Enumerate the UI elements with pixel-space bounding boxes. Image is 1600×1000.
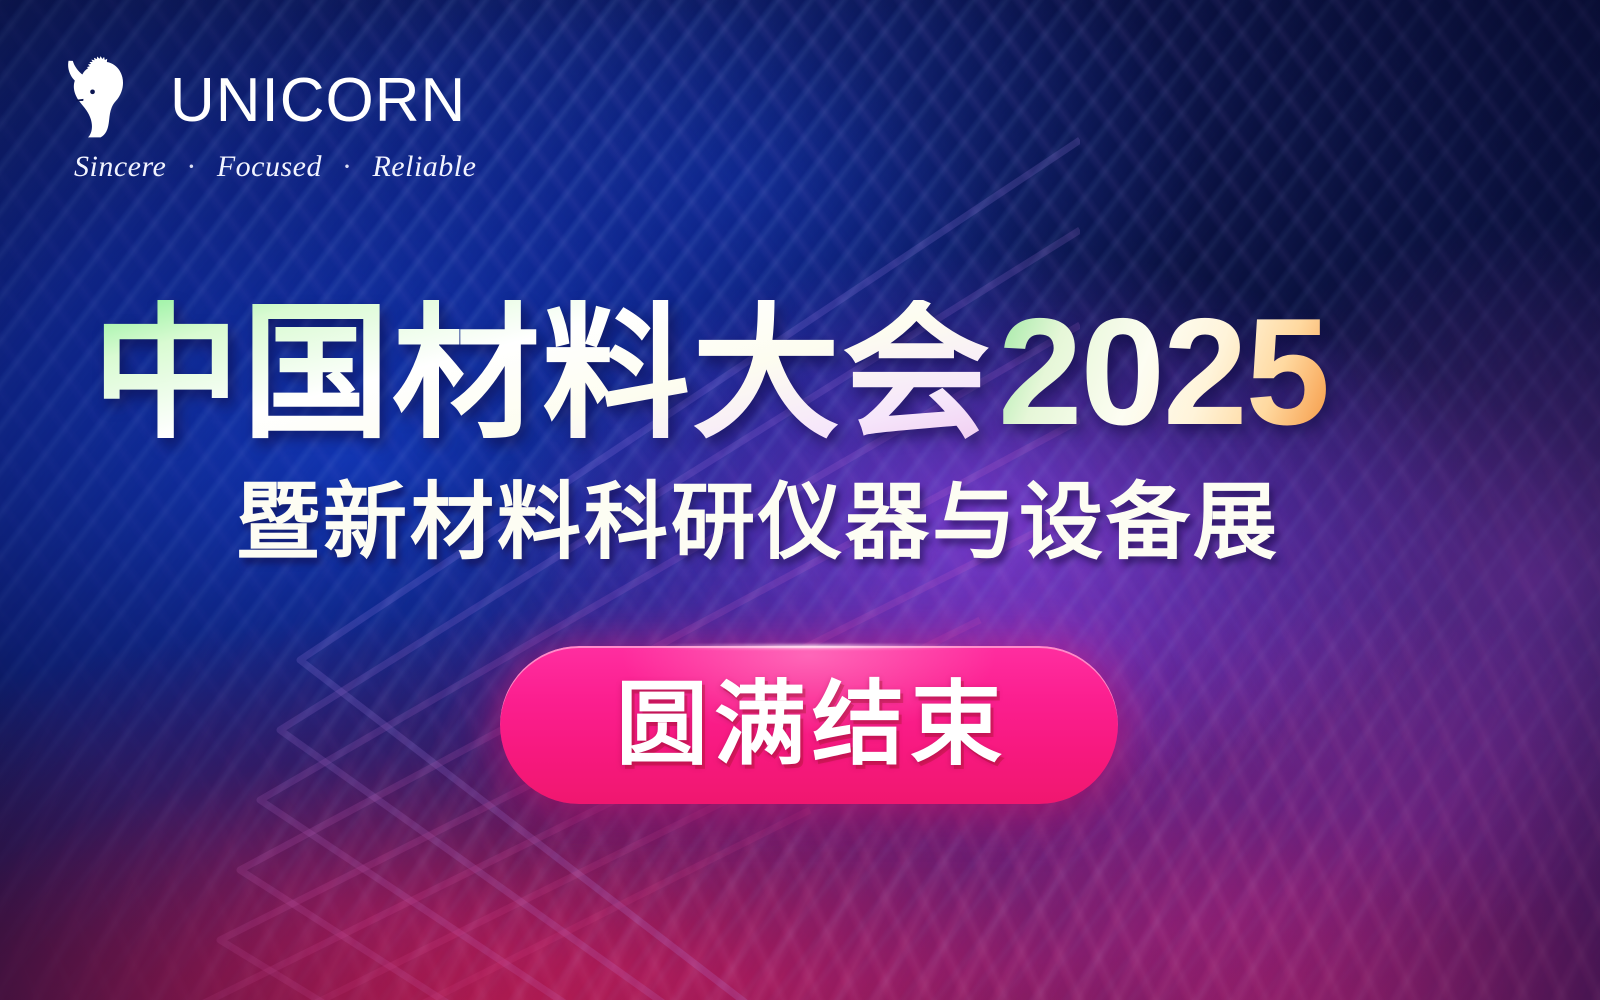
event-subtitle: 暨新材料科研仪器与设备展: [236, 478, 1280, 566]
headline-block: 中国材料大会 2025: [92, 296, 1328, 448]
logo-tagline-sincere: Sincere: [74, 150, 166, 183]
brand-logo: UNICORN Sincere · Focused · Reliable: [64, 56, 484, 184]
logo-tagline-separator-2: ·: [330, 150, 365, 183]
status-badge-label: 圆满结束: [610, 679, 1008, 771]
logo-wordmark: UNICORN: [170, 70, 466, 132]
logo-tagline: Sincere · Focused · Reliable: [64, 150, 484, 184]
unicorn-head-icon: [64, 56, 156, 142]
logo-tagline-reliable: Reliable: [372, 150, 476, 183]
logo-tagline-separator-1: ·: [174, 150, 209, 183]
event-year: 2025: [998, 296, 1328, 448]
logo-tagline-focused: Focused: [217, 150, 322, 183]
status-badge: 圆满结束: [500, 646, 1118, 804]
promo-banner: UNICORN Sincere · Focused · Reliable 中国材…: [0, 0, 1600, 1000]
event-title: 中国材料大会: [92, 300, 992, 448]
